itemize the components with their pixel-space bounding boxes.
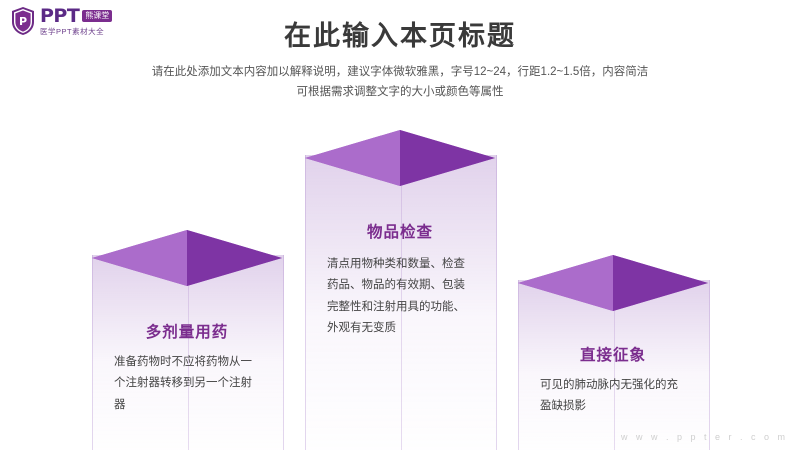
column-left-desc: 准备药物时不应将药物从一个注射器转移到另一个注射器 [92,352,282,416]
page-subtitle-line-1: 请在此处添加文本内容加以解释说明，建议字体微软雅黑，字号12~24，行距1.2~… [0,62,800,82]
diamond-top-right [518,255,708,311]
page-subtitle-line-2: 可根据需求调整文字的大小或颜色等属性 [0,82,800,102]
column-center-label: 物品检查 [305,220,495,242]
column-right-label: 直接征象 [518,343,708,365]
column-center[interactable]: 物品检查 清点用物种类和数量、检查药品、物品的有效期、包装完整性和注射用具的功能… [305,130,495,440]
page-title: 在此输入本页标题 [0,14,800,53]
column-center-desc: 清点用物种类和数量、检查药品、物品的有效期、包装完整性和注射用具的功能、外观有无… [305,254,495,339]
column-right-desc: 可见的肺动脉内无强化的充盈缺损影 [518,375,708,418]
three-column-prism-diagram: 多剂量用药 准备药物时不应将药物从一个注射器转移到另一个注射器 物品检查 清点用… [0,110,800,440]
column-right[interactable]: 直接征象 可见的肺动脉内无强化的充盈缺损影 [518,255,708,440]
diamond-top-left [92,230,282,286]
page-subtitle: 请在此处添加文本内容加以解释说明，建议字体微软雅黑，字号12~24，行距1.2~… [0,62,800,102]
watermark: w w w . p p t e r . c o m [621,432,788,442]
diamond-top-center [305,130,495,186]
column-left-label: 多剂量用药 [92,320,282,342]
column-left[interactable]: 多剂量用药 准备药物时不应将药物从一个注射器转移到另一个注射器 [92,230,282,440]
